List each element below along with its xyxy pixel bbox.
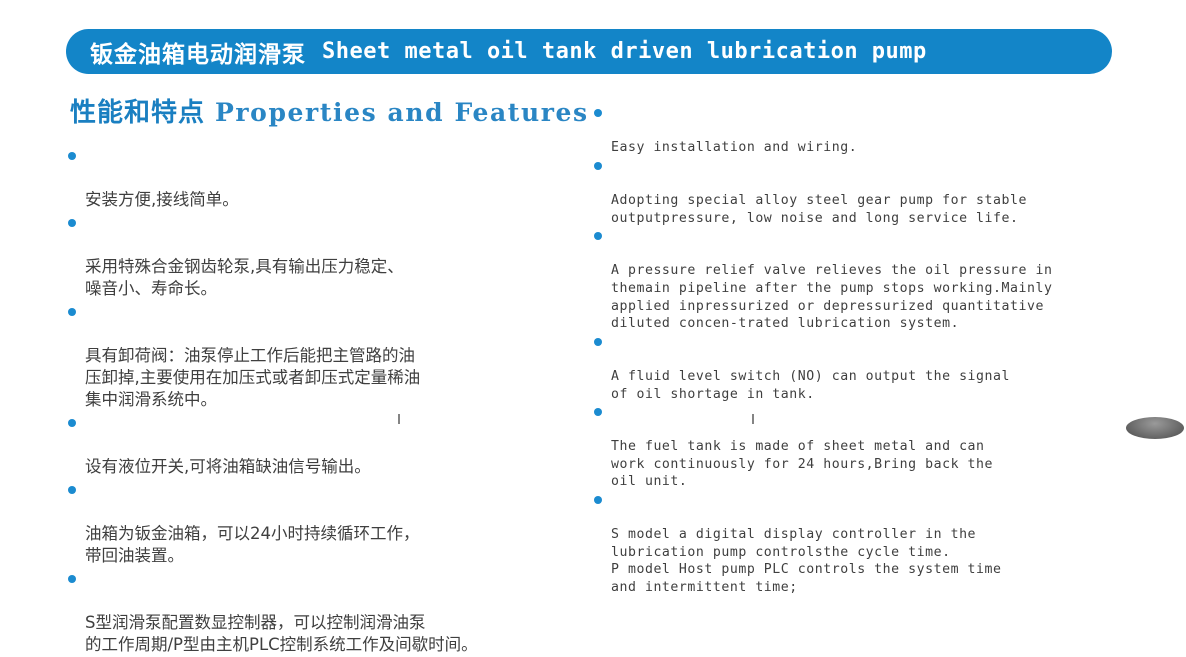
list-item: S型润滑泵配置数显控制器，可以控制润滑油泵 的工作周期/P型由主机PLC控制系统… — [68, 568, 568, 656]
bullet-dot-icon — [594, 496, 602, 504]
feature-list-chinese: 安装方便,接线简单。 采用特殊合金钢齿轮泵,具有输出压力稳定、 噪音小、寿命长。… — [68, 145, 568, 657]
list-item-text: 设有液位开关,可将油箱缺油信号输出。 — [85, 457, 371, 476]
list-item: S model a digital display controller in … — [594, 491, 1094, 597]
list-item-text: A pressure relief valve relieves the oil… — [611, 263, 1052, 331]
banner-title-english: Sheet metal oil tank driven lubrication … — [322, 39, 927, 64]
list-item-text: 具有卸荷阀：油泵停止工作后能把主管路的油 压卸掉,主要使用在加压式或者卸压式定量… — [85, 346, 420, 409]
bullet-dot-icon — [594, 109, 602, 117]
banner-title-chinese: 钣金油箱电动润滑泵 — [90, 35, 306, 69]
list-item: Easy installation and wiring. — [594, 104, 1094, 157]
list-item-text: S model a digital display controller in … — [611, 527, 1002, 595]
bullet-dot-icon — [68, 486, 76, 494]
bullet-dot-icon — [594, 232, 602, 240]
section-heading: 性能和特点 Properties and Features — [70, 92, 589, 129]
bullet-dot-icon — [594, 338, 602, 346]
bullet-dot-icon — [68, 419, 76, 427]
bullet-dot-icon — [594, 162, 602, 170]
list-item-text: A fluid level switch (NO) can output the… — [611, 369, 1010, 402]
list-item: A fluid level switch (NO) can output the… — [594, 333, 1094, 403]
bullet-dot-icon — [68, 219, 76, 227]
list-item: A pressure relief valve relieves the oil… — [594, 227, 1094, 333]
product-image-fragment — [1126, 417, 1184, 439]
list-item-text: The fuel tank is made of sheet metal and… — [611, 439, 993, 489]
bullet-dot-icon — [68, 575, 76, 583]
tick-mark-right — [752, 414, 754, 424]
list-item: 设有液位开关,可将油箱缺油信号输出。 — [68, 412, 568, 478]
feature-list-english: Easy installation and wiring. Adopting s… — [594, 104, 1094, 597]
list-item-text: Easy installation and wiring. — [611, 140, 857, 155]
list-item-text: 采用特殊合金钢齿轮泵,具有输出压力稳定、 噪音小、寿命长。 — [85, 257, 404, 298]
list-item: 采用特殊合金钢齿轮泵,具有输出压力稳定、 噪音小、寿命长。 — [68, 212, 568, 300]
section-heading-chinese: 性能和特点 — [70, 92, 205, 129]
bullet-dot-icon — [68, 152, 76, 160]
list-item-text: Adopting special alloy steel gear pump f… — [611, 193, 1027, 226]
list-item: Adopting special alloy steel gear pump f… — [594, 157, 1094, 227]
list-item-text: S型润滑泵配置数显控制器，可以控制润滑油泵 的工作周期/P型由主机PLC控制系统… — [85, 613, 478, 654]
list-item: 具有卸荷阀：油泵停止工作后能把主管路的油 压卸掉,主要使用在加压式或者卸压式定量… — [68, 301, 568, 411]
bullet-dot-icon — [68, 308, 76, 316]
bullet-dot-icon — [594, 408, 602, 416]
tick-mark-left — [398, 414, 400, 424]
list-item: 安装方便,接线简单。 — [68, 145, 568, 211]
section-heading-english: Properties and Features — [215, 98, 589, 127]
page-title-banner: 钣金油箱电动润滑泵 Sheet metal oil tank driven lu… — [66, 29, 1112, 74]
list-item: The fuel tank is made of sheet metal and… — [594, 403, 1094, 491]
list-item-text: 油箱为钣金油箱，可以24小时持续循环工作， 带回油装置。 — [85, 524, 420, 565]
list-item: 油箱为钣金油箱，可以24小时持续循环工作， 带回油装置。 — [68, 479, 568, 567]
list-item-text: 安装方便,接线简单。 — [85, 190, 239, 209]
